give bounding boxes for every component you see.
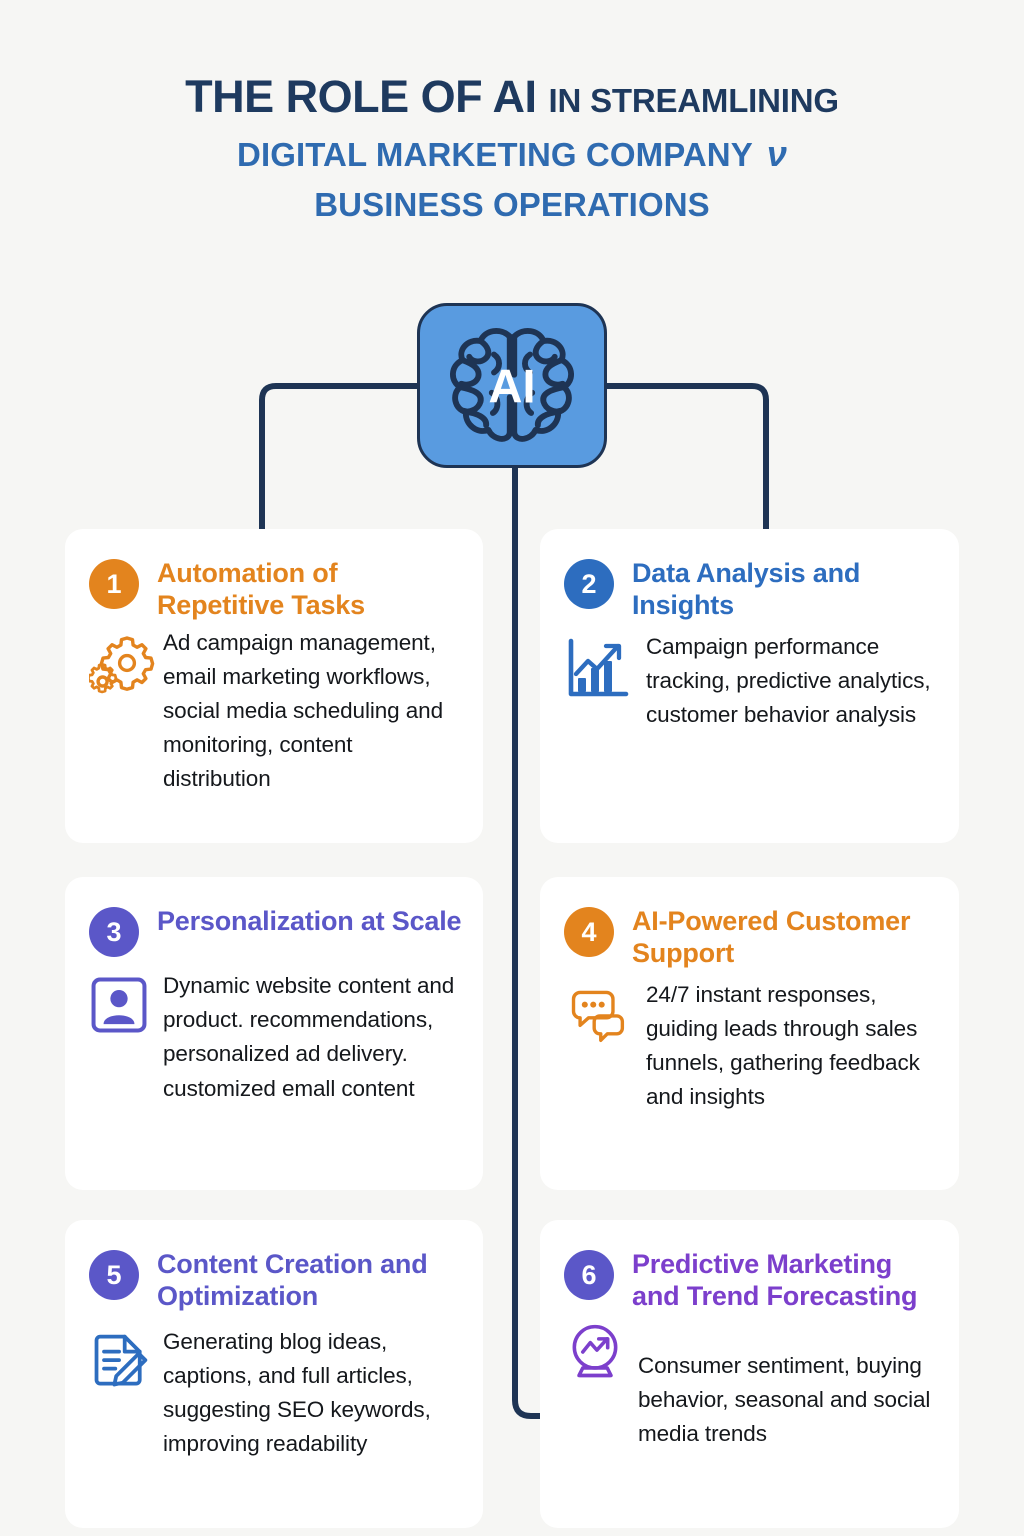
page-title: THE ROLE OF AIIN STREAMLINING DIGITAL MA… — [0, 74, 1024, 221]
brain-icon: AI — [444, 323, 580, 449]
card-number-badge: 3 — [89, 907, 139, 957]
card-title: Automation of Repetitive Tasks — [157, 556, 463, 622]
card-number-badge: 5 — [89, 1250, 139, 1300]
card-body: Ad campaign management, email marketing … — [65, 622, 483, 797]
user-profile-icon — [89, 975, 155, 1041]
card-header: 2 Data Analysis and Insights — [540, 529, 959, 622]
card-description: 24/7 instant responses, guiding leads th… — [646, 978, 941, 1115]
card-description: Dynamic website content and product. rec… — [163, 969, 465, 1106]
card-title: Personalization at Scale — [157, 904, 461, 938]
card-number-badge: 6 — [564, 1250, 614, 1300]
card-number-badge: 1 — [89, 559, 139, 609]
card-body: Consumer sentiment, buying behavior, sea… — [540, 1313, 959, 1452]
card-header: 3 Personalization at Scale — [65, 877, 483, 957]
card-description: Campaign performance tracking, predictiv… — [646, 630, 941, 733]
title-strong: THE ROLE OF AI — [185, 71, 536, 122]
card-description: Ad campaign management, email marketing … — [163, 626, 465, 797]
card-body: Campaign performance tracking, predictiv… — [540, 622, 959, 733]
card-title: AI-Powered Customer Support — [632, 904, 939, 970]
card-header: 4 AI-Powered Customer Support — [540, 877, 959, 970]
card-body: Generating blog ideas, captions, and ful… — [65, 1313, 483, 1462]
card-automation-of-repetitive-tasks[interactable]: 1 Automation of Repetitive Tasks Ad camp… — [65, 529, 483, 843]
title-line-3: BUSINESS OPERATIONS — [0, 188, 1024, 221]
title-subtitle-text: DIGITAL MARKETING COMPANY — [237, 136, 753, 173]
card-header: 5 Content Creation and Optimization — [65, 1220, 483, 1313]
bar-chart-growth-icon — [566, 636, 632, 702]
card-body: Dynamic website content and product. rec… — [65, 957, 483, 1106]
card-personalization-at-scale[interactable]: 3 Personalization at Scale Dynamic websi… — [65, 877, 483, 1190]
gears-icon — [89, 632, 155, 698]
card-header: 1 Automation of Repetitive Tasks — [65, 529, 483, 622]
card-content-creation-and-optimization[interactable]: 5 Content Creation and Optimization — [65, 1220, 483, 1528]
infographic-root: THE ROLE OF AIIN STREAMLINING DIGITAL MA… — [0, 0, 1024, 1536]
card-title: Predictive Marketing and Trend Forecasti… — [632, 1247, 939, 1313]
ai-label: AI — [444, 362, 580, 409]
card-data-analysis-and-insights[interactable]: 2 Data Analysis and Insights — [540, 529, 959, 843]
crystal-ball-trend-icon — [564, 1321, 630, 1387]
card-number-badge: 2 — [564, 559, 614, 609]
chat-bubbles-icon — [566, 984, 632, 1050]
title-line-2: DIGITAL MARKETING COMPANYν — [0, 136, 1024, 172]
card-title: Content Creation and Optimization — [157, 1247, 463, 1313]
title-nu-symbol: ν — [767, 133, 787, 174]
title-line-1: THE ROLE OF AIIN STREAMLINING — [0, 74, 1024, 119]
card-description: Consumer sentiment, buying behavior, sea… — [638, 1349, 941, 1452]
card-title: Data Analysis and Insights — [632, 556, 939, 622]
title-rest: IN STREAMLINING — [549, 82, 839, 119]
card-predictive-marketing-and-trend-forecasting[interactable]: 6 Predictive Marketing and Trend Forecas… — [540, 1220, 959, 1528]
card-header: 6 Predictive Marketing and Trend Forecas… — [540, 1220, 959, 1313]
card-body: 24/7 instant responses, guiding leads th… — [540, 970, 959, 1115]
card-description: Generating blog ideas, captions, and ful… — [163, 1325, 465, 1462]
document-edit-icon — [89, 1331, 155, 1397]
ai-center-node[interactable]: AI — [417, 303, 607, 468]
card-number-badge: 4 — [564, 907, 614, 957]
card-ai-powered-customer-support[interactable]: 4 AI-Powered Customer Support 24/7 in — [540, 877, 959, 1190]
